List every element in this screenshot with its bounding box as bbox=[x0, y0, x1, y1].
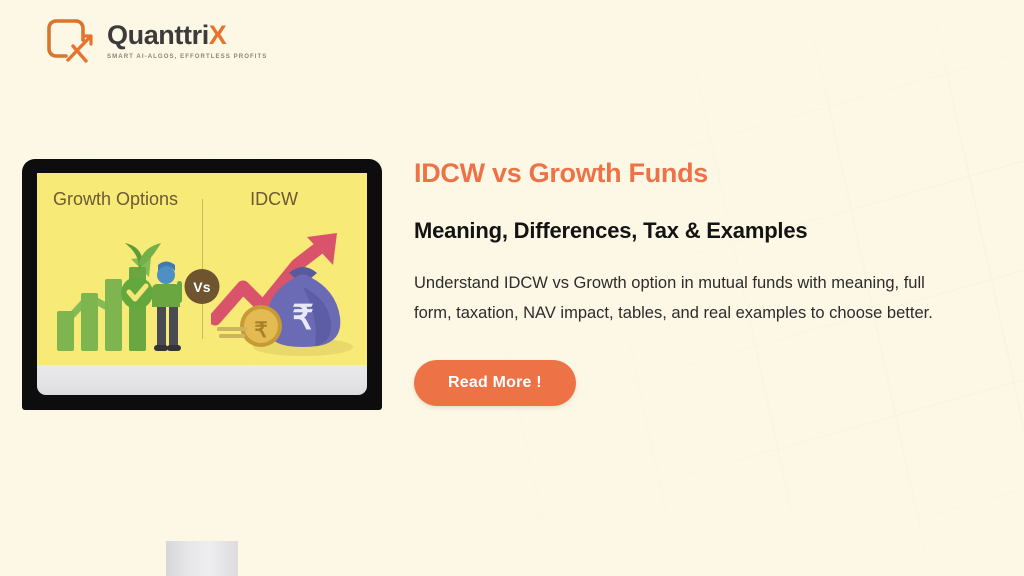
content-column: IDCW vs Growth Funds Meaning, Difference… bbox=[414, 158, 960, 406]
brand-tagline: SMART AI-ALGOS, EFFORTLESS PROFITS bbox=[107, 54, 267, 60]
read-more-button[interactable]: Read More ! bbox=[414, 360, 576, 406]
screen-label-growth: Growth Options bbox=[53, 189, 178, 210]
monitor-chin bbox=[37, 365, 367, 395]
monitor-stand-neck bbox=[166, 541, 238, 576]
quanttrix-bracket-arrow-logo-icon bbox=[44, 16, 98, 66]
page-subtitle: Meaning, Differences, Tax & Examples bbox=[414, 218, 960, 244]
svg-text:₹: ₹ bbox=[292, 299, 314, 337]
screen-label-idcw: IDCW bbox=[250, 189, 298, 210]
vs-badge: Vs bbox=[185, 269, 220, 304]
vs-badge-label: Vs bbox=[193, 279, 211, 295]
monitor-screen: Growth Options IDCW bbox=[37, 173, 367, 365]
promo-banner: QuanttriX SMART AI-ALGOS, EFFORTLESS PRO… bbox=[0, 0, 1024, 576]
monitor-thumbnail[interactable]: Growth Options IDCW bbox=[22, 159, 382, 410]
green-growth-bar-chart-icon bbox=[51, 231, 191, 359]
monitor-bezel: Growth Options IDCW bbox=[22, 159, 382, 410]
page-description: Understand IDCW vs Growth option in mutu… bbox=[414, 268, 942, 328]
brand-logo[interactable]: QuanttriX SMART AI-ALGOS, EFFORTLESS PRO… bbox=[44, 16, 267, 66]
brand-wordmark: QuanttriX bbox=[107, 22, 267, 49]
brand-name-main: Quanttri bbox=[107, 20, 209, 50]
brand-name-accent: X bbox=[209, 20, 227, 50]
money-bag-with-rising-arrow-icon: ₹ ₹ bbox=[211, 231, 361, 359]
page-title: IDCW vs Growth Funds bbox=[414, 158, 960, 189]
brand-wordmark-group: QuanttriX SMART AI-ALGOS, EFFORTLESS PRO… bbox=[107, 22, 267, 60]
svg-text:₹: ₹ bbox=[254, 319, 267, 342]
